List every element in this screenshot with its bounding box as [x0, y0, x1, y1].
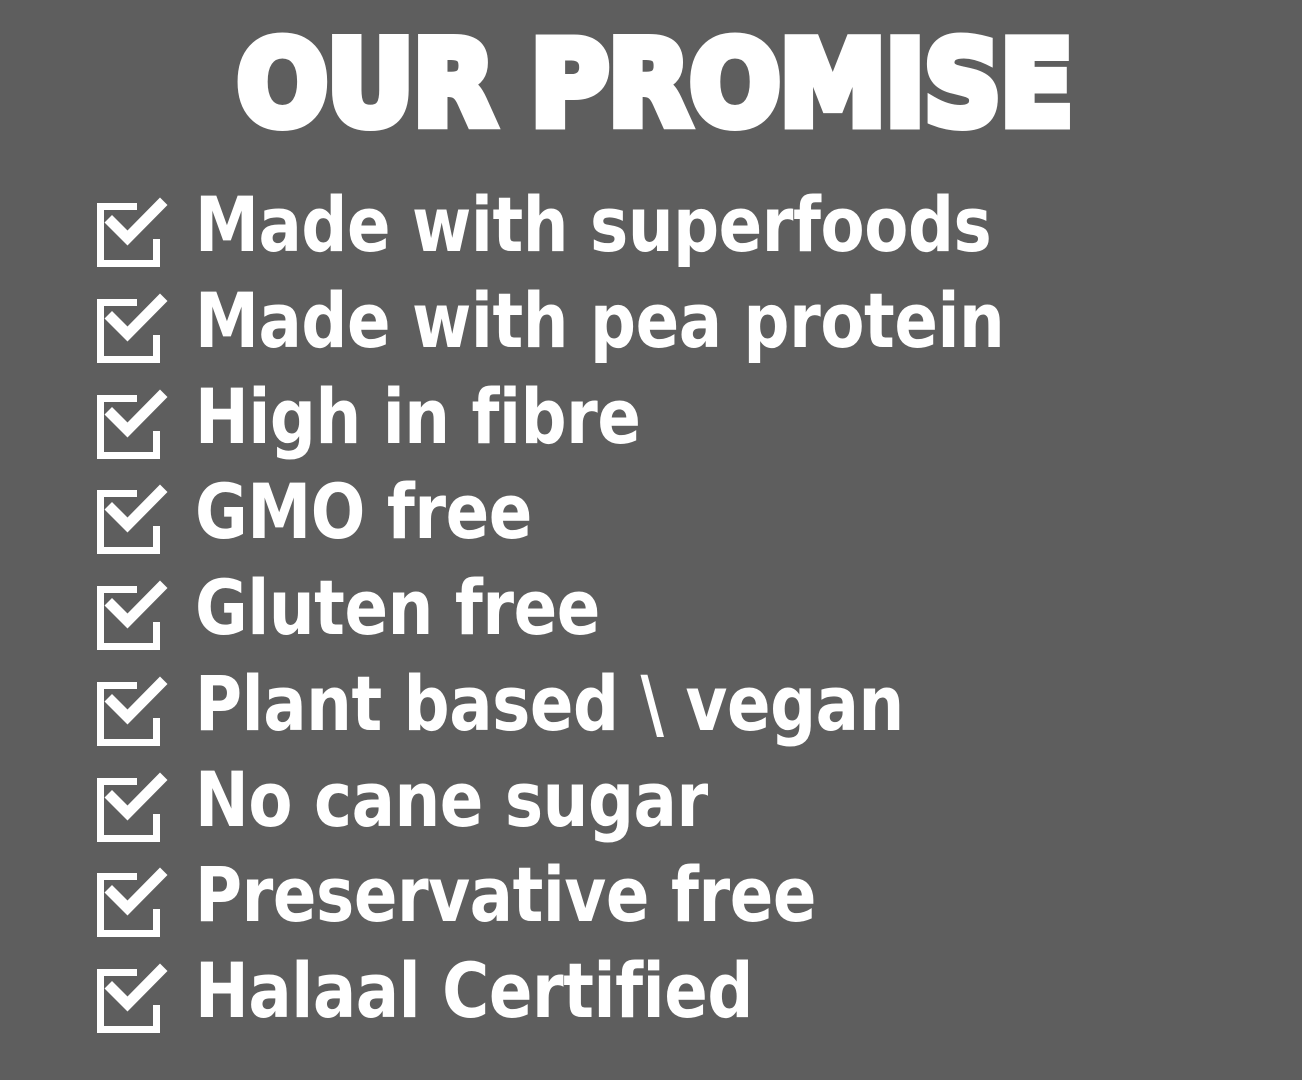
- checkbox-checked-icon: [94, 483, 172, 561]
- checkbox-checked-icon: [94, 866, 172, 944]
- promise-checklist: Made with superfoods Made with pea prote…: [0, 190, 1302, 1052]
- checkbox-checked-icon: [94, 388, 172, 466]
- list-item-label: Gluten free: [195, 569, 1130, 647]
- list-item-label: Made with superfoods: [195, 186, 1130, 264]
- list-item: High in fibre: [0, 382, 1302, 478]
- list-item-label: Plant based \ vegan: [195, 665, 1130, 743]
- checkbox-checked-icon: [94, 292, 172, 370]
- list-item: Preservative free: [0, 860, 1302, 956]
- list-item: Halaal Certified: [0, 956, 1302, 1052]
- list-item: Plant based \ vegan: [0, 669, 1302, 765]
- page-title-text: OUR PROMISE: [236, 26, 1071, 142]
- list-item-label: Made with pea protein: [195, 282, 1130, 360]
- list-item: GMO free: [0, 477, 1302, 573]
- promise-graphic: OUR PROMISE Made with superfoods Made wi…: [0, 0, 1302, 1080]
- checkbox-checked-icon: [94, 579, 172, 657]
- list-item-label: Preservative free: [195, 856, 1130, 934]
- list-item: Made with pea protein: [0, 286, 1302, 382]
- list-item: Gluten free: [0, 573, 1302, 669]
- checkbox-checked-icon: [94, 196, 172, 274]
- page-title: OUR PROMISE: [0, 24, 1302, 144]
- list-item-label: Halaal Certified: [195, 952, 1130, 1030]
- list-item-label: No cane sugar: [195, 761, 1130, 839]
- list-item: Made with superfoods: [0, 190, 1302, 286]
- checkbox-checked-icon: [94, 675, 172, 753]
- list-item-label: GMO free: [195, 473, 1130, 551]
- list-item: No cane sugar: [0, 765, 1302, 861]
- checkbox-checked-icon: [94, 771, 172, 849]
- checkbox-checked-icon: [94, 962, 172, 1040]
- list-item-label: High in fibre: [195, 378, 1130, 456]
